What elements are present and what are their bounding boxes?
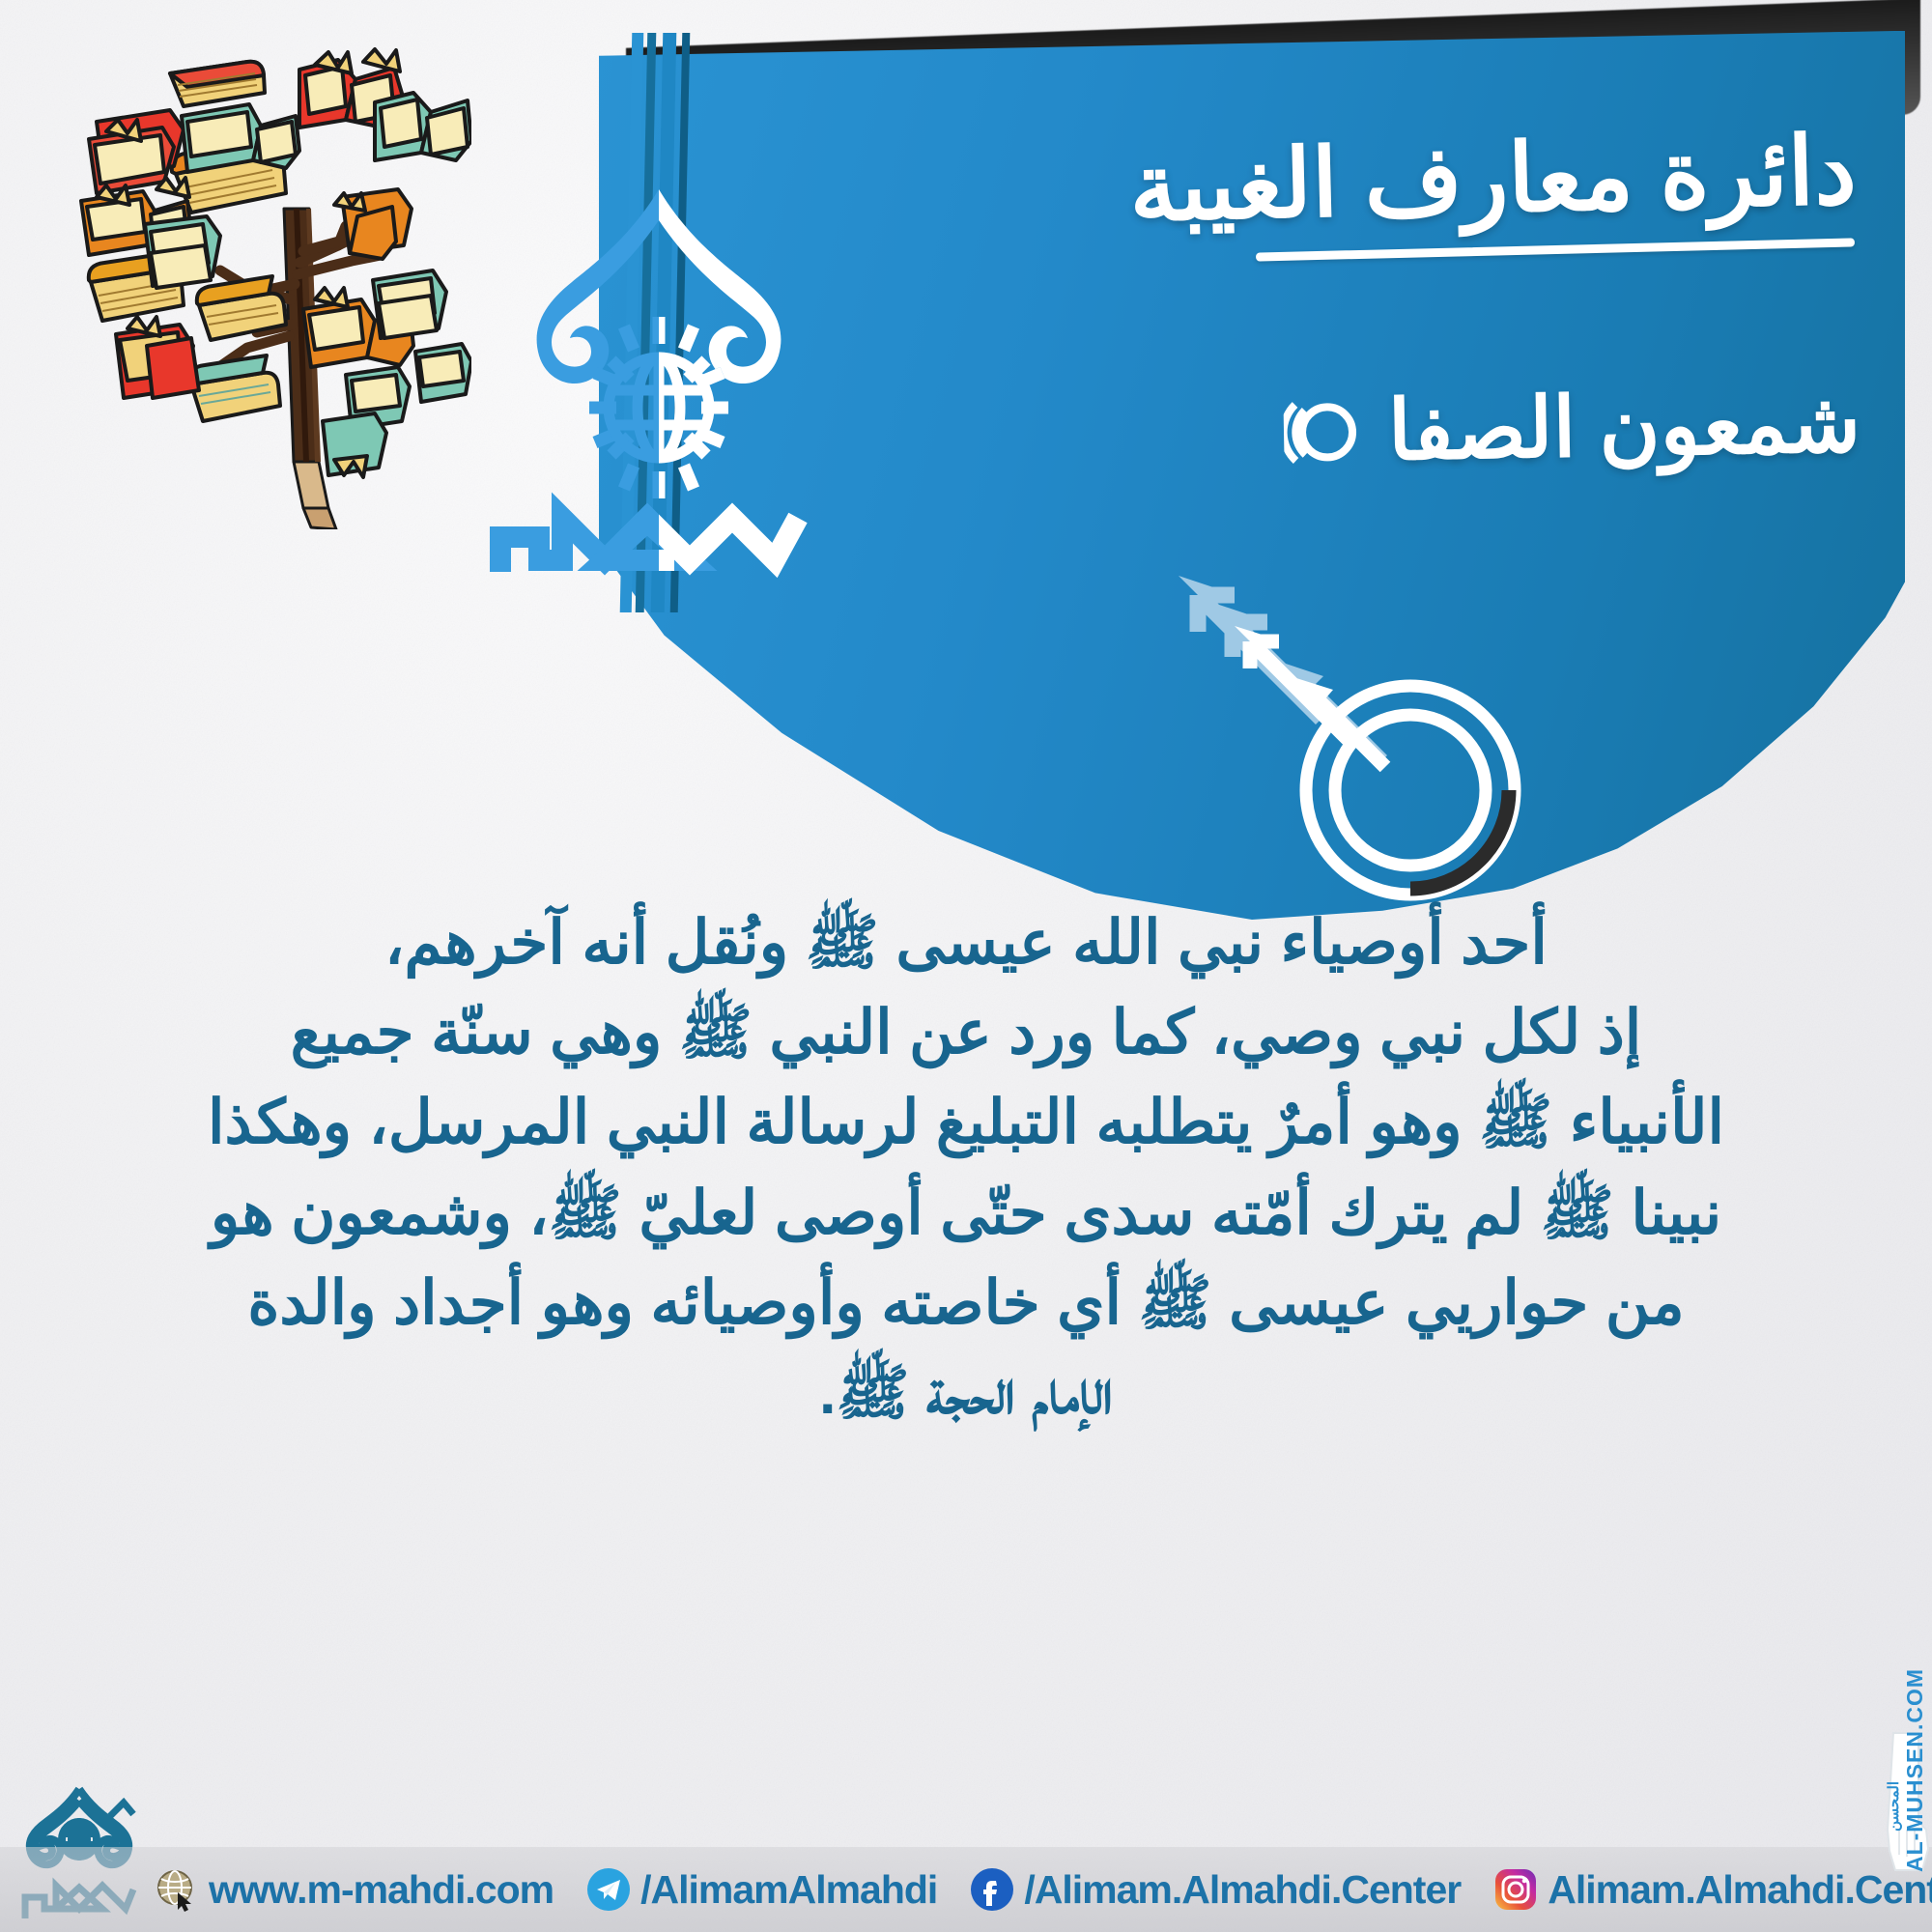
instagram-icon [1493,1867,1538,1912]
footer-link-telegram[interactable]: /AlimamAlmahdi [586,1867,937,1913]
footer-link-instagram-label: Alimam.Almahdi.Center [1548,1867,1932,1913]
banner-title: دائرة معارف الغيبة [1128,123,1858,235]
footer-link-telegram-label: /AlimamAlmahdi [640,1867,937,1913]
body-line-4: نبينا ﷺ لم يترك أمّته سدى حتّى أوصى لعلي… [21,1169,1911,1259]
book-tree-pencil-icon [56,46,471,529]
circular-seal-icon [1265,645,1555,935]
facebook-icon [970,1867,1014,1912]
footer-link-facebook-label: /Alimam.Almahdi.Center [1024,1867,1461,1913]
banner-subtitle-row: شمعون الصفا [1283,375,1861,481]
article-body: أحد أوصياء نبي الله عيسى ﷺ ونُقل أنه آخر… [21,898,1911,1438]
islamic-ornament-globe-logo [435,182,889,587]
telegram-icon [586,1867,631,1912]
banner: دائرة معارف الغيبة شمعون الصفا [599,17,1932,945]
watermark-latin: AL-MUHSEN.COM [1902,1668,1928,1872]
body-line-2: إذ لكل نبي وصي، كما ورد عن النبي ﷺ وهي س… [21,988,1911,1078]
footer-social-bar: www.m-mahdi.com /AlimamAlmahdi /Alimam.A… [0,1847,1932,1932]
poster-canvas: دائرة معارف الغيبة شمعون الصفا أحد أوصيا… [0,0,1932,1932]
body-line-1: أحد أوصياء نبي الله عيسى ﷺ ونُقل أنه آخر… [21,898,1911,988]
globe-cursor-icon [155,1867,199,1912]
body-line-3: الأنبياء ﷺ وهو أمرٌ يتطلبه التبليغ لرسال… [21,1078,1911,1168]
footer-link-facebook[interactable]: /Alimam.Almahdi.Center [970,1867,1461,1913]
footer-link-website-label: www.m-mahdi.com [209,1867,554,1913]
footer-link-instagram[interactable]: Alimam.Almahdi.Center [1493,1867,1932,1913]
watermark-arabic: المحسن [1886,1781,1903,1832]
banner-subtitle: شمعون الصفا [1387,375,1861,480]
body-line-6: الإمام الحجة ﷺ. [21,1349,1911,1438]
body-line-5: من حواريي عيسى ﷺ أي خاصته وأوصيائه وهو أ… [21,1259,1911,1349]
target-circle-icon [1283,390,1367,474]
footer-link-website[interactable]: www.m-mahdi.com [155,1867,554,1913]
